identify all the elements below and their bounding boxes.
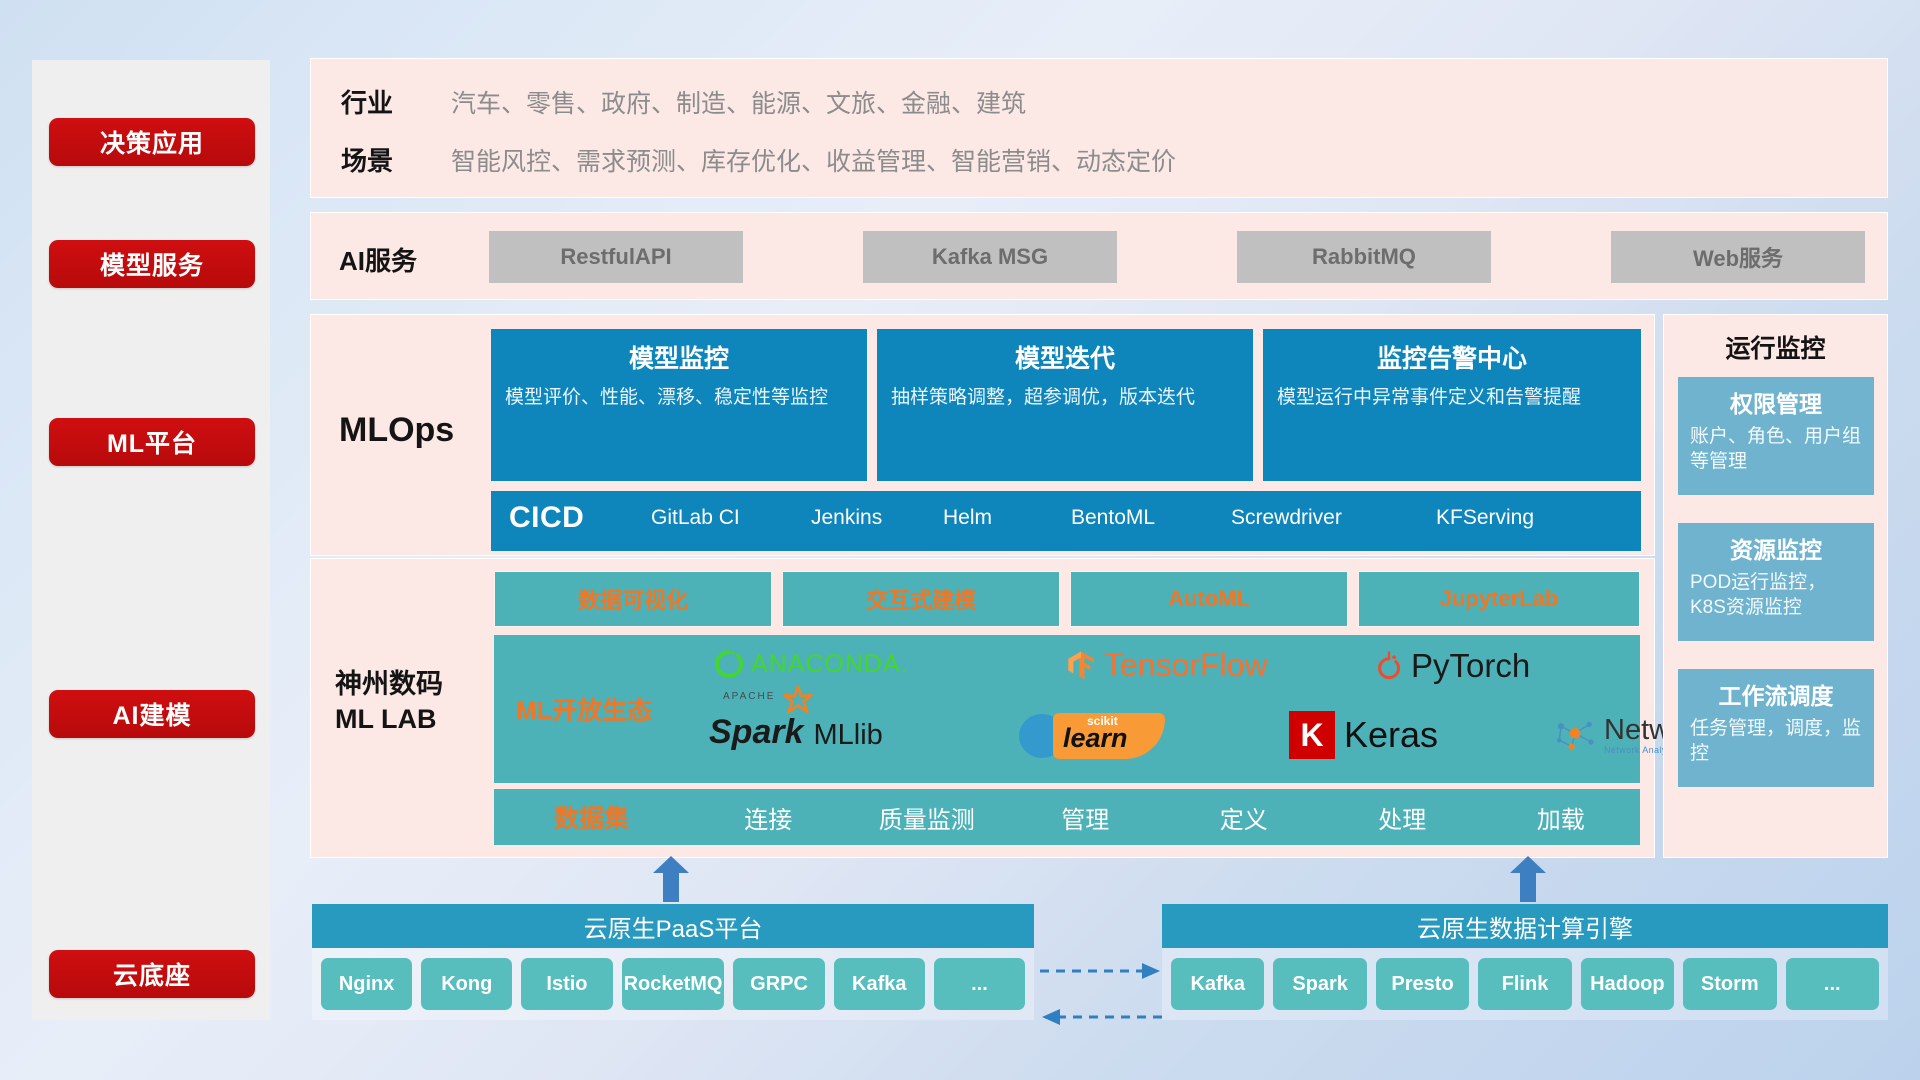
paas-platform-title: 云原生PaaS平台 xyxy=(312,904,1034,948)
rail-label: 云底座 xyxy=(113,956,191,992)
runtime-monitor-panel: 运行监控 权限管理 账户、角色、用户组等管理 资源监控 POD运行监控，K8S资… xyxy=(1663,314,1888,858)
paas-chip-more[interactable]: ... xyxy=(934,958,1025,1010)
dataset-title: 数据集 xyxy=(494,799,689,835)
logo-suffix: MLlib xyxy=(814,719,883,752)
engine-chip-spark[interactable]: Spark xyxy=(1273,958,1366,1010)
layer-rail: 决策应用 模型服务 ML平台 AI建模 云底座 xyxy=(32,60,270,1020)
data-engine-chip-list: Kafka Spark Presto Flink Hadoop Storm ..… xyxy=(1162,948,1888,1020)
logo-text: learn xyxy=(1063,723,1128,754)
dataset-item-define[interactable]: 定义 xyxy=(1165,800,1324,835)
logo-anaconda: ANACONDA. xyxy=(714,649,909,679)
cicd-item-bentoml[interactable]: BentoML xyxy=(1071,505,1191,531)
rail-item-cloud-base[interactable]: 云底座 xyxy=(49,950,255,998)
dataset-item-process[interactable]: 处理 xyxy=(1323,800,1482,835)
industry-label: 行业 xyxy=(341,83,451,120)
service-chip-rabbitmq[interactable]: RabbitMQ xyxy=(1237,231,1491,283)
service-chip-restfulapi[interactable]: RestfulAPI xyxy=(489,231,743,283)
scenario-label: 场景 xyxy=(341,141,451,178)
cicd-bar: CICD GitLab CI Jenkins Helm BentoML Scre… xyxy=(491,491,1641,551)
ml-lab-line1: 神州数码 xyxy=(335,667,443,702)
paas-chip-rocketmq[interactable]: RocketMQ xyxy=(622,958,725,1010)
card-desc: 任务管理，调度，监控 xyxy=(1690,717,1862,766)
cicd-item-screwdriver[interactable]: Screwdriver xyxy=(1231,505,1351,531)
paas-chip-grpc[interactable]: GRPC xyxy=(733,958,824,1010)
scenario-values: 智能风控、需求预测、库存优化、收益管理、智能营销、动态定价 xyxy=(451,142,1176,178)
logo-tensorflow: TensorFlow xyxy=(1064,647,1268,684)
rail-item-ml-platform[interactable]: ML平台 xyxy=(49,418,255,466)
logo-subtext: APACHE xyxy=(723,691,775,702)
logo-pytorch: PyTorch xyxy=(1374,647,1530,685)
card-title: 模型迭代 xyxy=(891,339,1239,375)
mlops-label: MLOps xyxy=(339,411,454,450)
logo-text: TensorFlow xyxy=(1104,647,1268,684)
rail-item-ai-modeling[interactable]: AI建模 xyxy=(49,690,255,738)
monitor-card-permission[interactable]: 权限管理 账户、角色、用户组等管理 xyxy=(1678,377,1874,495)
rail-label: AI建模 xyxy=(112,696,191,732)
dataset-band: 数据集 连接 质量监测 管理 定义 处理 加载 xyxy=(494,789,1640,845)
paas-chip-list: Nginx Kong Istio RocketMQ GRPC Kafka ... xyxy=(312,948,1034,1020)
cicd-item-jenkins[interactable]: Jenkins xyxy=(811,505,931,531)
mlops-panel: MLOps 模型监控 模型评价、性能、漂移、稳定性等监控 模型迭代 抽样策略调整… xyxy=(310,314,1655,556)
tensorflow-icon xyxy=(1064,649,1098,683)
rail-item-model-service[interactable]: 模型服务 xyxy=(49,240,255,288)
card-desc: 账户、角色、用户组等管理 xyxy=(1690,425,1862,474)
card-desc: 模型评价、性能、漂移、稳定性等监控 xyxy=(505,385,853,411)
dataset-item-manage[interactable]: 管理 xyxy=(1006,800,1165,835)
rail-label: ML平台 xyxy=(107,424,197,460)
keras-mark-icon: K xyxy=(1289,711,1335,759)
tool-chip-jupyterlab[interactable]: JupyterLab xyxy=(1358,571,1640,627)
monitor-card-workflow[interactable]: 工作流调度 任务管理，调度，监控 xyxy=(1678,669,1874,787)
engine-chip-hadoop[interactable]: Hadoop xyxy=(1581,958,1674,1010)
service-chip-web-service[interactable]: Web服务 xyxy=(1611,231,1865,283)
diagram-canvas: 决策应用 模型服务 ML平台 AI建模 云底座 行业 汽车、零售、政府、制造、能… xyxy=(0,0,1920,1080)
card-title: 监控告警中心 xyxy=(1277,339,1627,375)
cicd-item-kfserving[interactable]: KFServing xyxy=(1436,505,1556,531)
data-engine-title: 云原生数据计算引擎 xyxy=(1162,904,1888,948)
monitor-card-resource[interactable]: 资源监控 POD运行监控，K8S资源监控 xyxy=(1678,523,1874,641)
tool-chip-automl[interactable]: AutoML xyxy=(1070,571,1348,627)
tool-chip-data-visualization[interactable]: 数据可视化 xyxy=(494,571,772,627)
ml-ecosystem-label: ML开放生态 xyxy=(516,691,652,727)
paas-chip-kong[interactable]: Kong xyxy=(421,958,512,1010)
logo-text: PyTorch xyxy=(1411,647,1530,685)
paas-platform-block: 云原生PaaS平台 Nginx Kong Istio RocketMQ GRPC… xyxy=(312,904,1034,1020)
cicd-title: CICD xyxy=(509,501,584,535)
engine-chip-presto[interactable]: Presto xyxy=(1376,958,1469,1010)
logo-text: ANACONDA. xyxy=(751,650,909,679)
data-engine-block: 云原生数据计算引擎 Kafka Spark Presto Flink Hadoo… xyxy=(1162,904,1888,1020)
engine-chip-kafka[interactable]: Kafka xyxy=(1171,958,1264,1010)
dataset-item-load[interactable]: 加载 xyxy=(1482,800,1641,835)
logo-text: Spark xyxy=(709,713,804,751)
decision-app-panel: 行业 汽车、零售、政府、制造、能源、文旅、金融、建筑 场景 智能风控、需求预测、… xyxy=(310,58,1888,198)
ai-modeling-panel: 神州数码 ML LAB 数据可视化 交互式建模 AutoML JupyterLa… xyxy=(310,558,1655,858)
rail-item-decision-app[interactable]: 决策应用 xyxy=(49,118,255,166)
ml-lab-label: 神州数码 ML LAB xyxy=(335,667,443,737)
ml-lab-line2: ML LAB xyxy=(335,702,443,737)
card-title: 资源监控 xyxy=(1690,531,1862,565)
card-title: 权限管理 xyxy=(1690,385,1862,419)
dataset-item-quality[interactable]: 质量监测 xyxy=(848,800,1007,835)
mlops-card-alert-center[interactable]: 监控告警中心 模型运行中异常事件定义和告警提醒 xyxy=(1263,329,1641,481)
ai-service-panel: AI服务 RestfulAPI Kafka MSG RabbitMQ Web服务 xyxy=(310,212,1888,300)
logo-keras: K Keras xyxy=(1289,711,1438,759)
ml-ecosystem-band: ML开放生态 ANACONDA. TensorFlow xyxy=(494,635,1640,783)
paas-chip-istio[interactable]: Istio xyxy=(521,958,612,1010)
arrow-up-data-engine xyxy=(1508,856,1548,896)
engine-chip-more[interactable]: ... xyxy=(1786,958,1879,1010)
arrow-up-paas xyxy=(651,856,691,896)
industry-row: 行业 汽车、零售、政府、制造、能源、文旅、金融、建筑 xyxy=(341,83,1026,120)
card-title: 工作流调度 xyxy=(1690,677,1862,711)
pytorch-icon xyxy=(1374,650,1404,682)
card-desc: 模型运行中异常事件定义和告警提醒 xyxy=(1277,385,1627,411)
paas-chip-nginx[interactable]: Nginx xyxy=(321,958,412,1010)
engine-chip-flink[interactable]: Flink xyxy=(1478,958,1571,1010)
dataset-item-connect[interactable]: 连接 xyxy=(689,800,848,835)
ai-service-label: AI服务 xyxy=(339,241,417,278)
networkx-graph-icon xyxy=(1554,715,1598,755)
anaconda-icon xyxy=(714,649,744,679)
rail-label: 模型服务 xyxy=(100,246,204,282)
tool-chip-interactive-modeling[interactable]: 交互式建模 xyxy=(782,571,1060,627)
spark-star-icon xyxy=(781,685,815,715)
logo-text: Keras xyxy=(1344,714,1438,756)
logo-spark-mllib: APACHE Spark MLlib xyxy=(709,713,883,752)
cicd-item-helm[interactable]: Helm xyxy=(943,505,1063,531)
scenario-row: 场景 智能风控、需求预测、库存优化、收益管理、智能营销、动态定价 xyxy=(341,141,1176,178)
logo-scikit-learn: scikit learn xyxy=(1019,713,1165,759)
card-title: 模型监控 xyxy=(505,339,853,375)
service-chip-kafka-msg[interactable]: Kafka MSG xyxy=(863,231,1117,283)
paas-chip-kafka[interactable]: Kafka xyxy=(834,958,925,1010)
card-desc: 抽样策略调整，超参调优，版本迭代 xyxy=(891,385,1239,411)
runtime-monitor-title: 运行监控 xyxy=(1664,329,1887,365)
mlops-card-model-monitoring[interactable]: 模型监控 模型评价、性能、漂移、稳定性等监控 xyxy=(491,329,867,481)
cicd-item-gitlab-ci[interactable]: GitLab CI xyxy=(651,505,771,531)
card-desc: POD运行监控，K8S资源监控 xyxy=(1690,571,1862,620)
paas-data-engine-link xyxy=(1038,955,1158,1027)
industry-values: 汽车、零售、政府、制造、能源、文旅、金融、建筑 xyxy=(451,84,1026,120)
rail-label: 决策应用 xyxy=(100,124,204,160)
scikit-orange-blob-icon: scikit learn xyxy=(1053,713,1165,759)
mlops-card-model-iteration[interactable]: 模型迭代 抽样策略调整，超参调优，版本迭代 xyxy=(877,329,1253,481)
engine-chip-storm[interactable]: Storm xyxy=(1683,958,1776,1010)
